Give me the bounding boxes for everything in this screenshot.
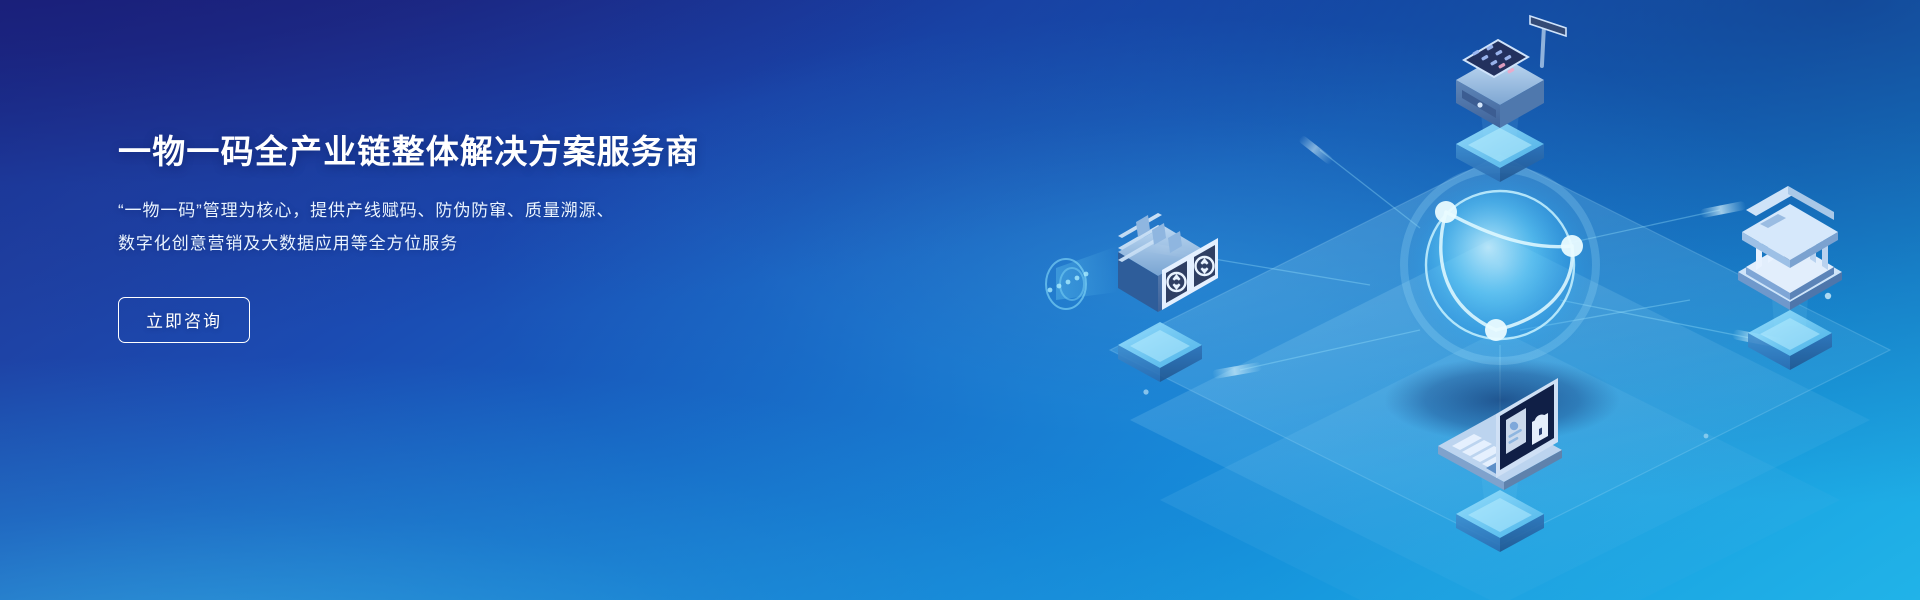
subtitle-block: “一物一码”管理为核心，提供产线赋码、防伪防窜、质量溯源、 数字化创意营销及大数… [118,194,818,260]
page-title: 一物一码全产业链整体解决方案服务商 [118,132,818,172]
server-rack-icon [1046,213,1218,382]
banner-copy: 一物一码全产业链整体解决方案服务商 “一物一码”管理为核心，提供产线赋码、防伪防… [118,132,818,343]
hero-banner: 一物一码全产业链整体解决方案服务商 “一物一码”管理为核心，提供产线赋码、防伪防… [0,0,1920,600]
consult-now-button[interactable]: 立即咨询 [118,297,250,343]
bank-building-icon [1738,186,1842,370]
hero-illustration [860,0,1920,600]
subtitle-line-2: 数字化创意营销及大数据应用等全方位服务 [118,227,818,260]
subtitle-line-1: “一物一码”管理为核心，提供产线赋码、防伪防窜、质量溯源、 [118,194,818,227]
scan-beam [1046,246,1118,309]
pos-terminal-icon [1456,16,1566,182]
cta-wrapper: 立即咨询 [118,297,818,343]
